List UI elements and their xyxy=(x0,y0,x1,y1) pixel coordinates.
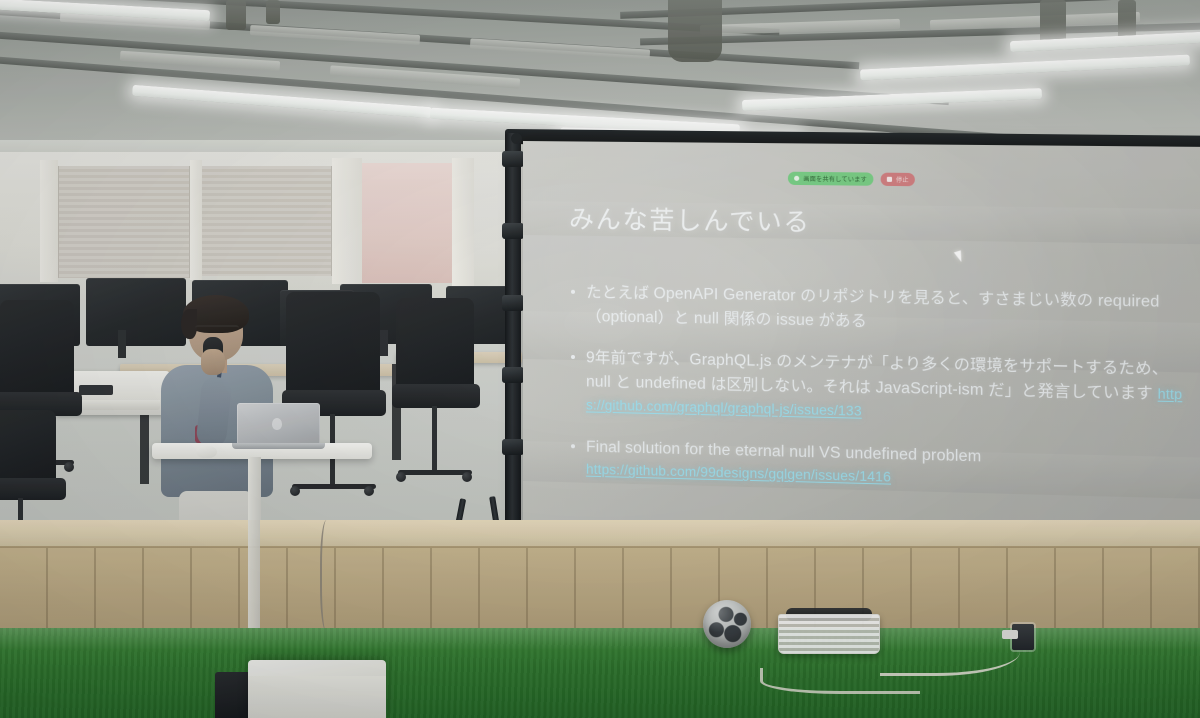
list-item: Final solution for the eternal null VS u… xyxy=(569,435,1188,496)
screen-share-bar: 画面を共有しています 停止 xyxy=(788,172,915,187)
projection-screen: 画面を共有しています 停止 みんな苦しんでいる たとえば OpenAPI Gen… xyxy=(497,127,1200,567)
slide-title: みんな苦しんでいる xyxy=(569,200,1188,244)
slide-bullet-list: たとえば OpenAPI Generator のリポジトリを見ると、すさまじい数… xyxy=(569,281,1188,497)
sharing-status-badge[interactable]: 画面を共有しています xyxy=(788,172,873,186)
sharing-dot-icon xyxy=(794,176,799,181)
wall-column xyxy=(40,160,58,282)
soccer-ball xyxy=(703,600,751,648)
stop-square-icon xyxy=(887,177,892,182)
mouse-cursor-icon xyxy=(954,250,964,263)
presenter-hand xyxy=(201,349,225,375)
list-item: たとえば OpenAPI Generator のリポジトリを見ると、すさまじい数… xyxy=(569,281,1188,340)
slide: 画面を共有しています 停止 みんな苦しんでいる たとえば OpenAPI Gen… xyxy=(523,141,1200,566)
accent-wall-panel xyxy=(360,163,452,283)
monitor-stand xyxy=(118,330,126,358)
wall-column xyxy=(452,158,474,286)
frame-clamp xyxy=(502,439,524,455)
frame-clamp xyxy=(502,151,524,167)
window-blind xyxy=(200,166,332,276)
frame-knob xyxy=(511,133,522,144)
computer-mouse xyxy=(196,446,217,458)
stage-front-panel xyxy=(0,548,1200,634)
sharing-label: 画面を共有しています xyxy=(803,174,867,184)
projection-surface: 画面を共有しています 停止 みんな苦しんでいる たとえば OpenAPI Gen… xyxy=(523,141,1200,566)
glasses-icon xyxy=(195,325,239,336)
extension-cable xyxy=(760,668,920,694)
apple-logo-icon xyxy=(272,418,282,430)
screen-frame-left xyxy=(505,133,521,565)
frame-clamp xyxy=(502,367,524,383)
laptop-base xyxy=(232,443,325,449)
window-blind xyxy=(58,166,190,278)
wall-column xyxy=(332,158,362,284)
structural-pillar xyxy=(248,520,260,640)
storage-basket xyxy=(778,614,880,654)
frame-clamp xyxy=(502,295,524,311)
wall-column xyxy=(190,160,202,280)
stop-sharing-button[interactable]: 停止 xyxy=(880,173,915,187)
bullet-text: たとえば OpenAPI Generator のリポジトリを見ると、すさまじい数… xyxy=(586,284,1160,330)
equipment-case-front xyxy=(248,676,386,718)
power-cable xyxy=(320,520,336,632)
bullet-text: 9年前ですが、GraphQL.js のメンテナが「より多くの環境をサポートするた… xyxy=(586,349,1168,402)
monitor-stand xyxy=(380,330,388,356)
list-item: 9年前ですが、GraphQL.js のメンテナが「より多くの環境をサポートするた… xyxy=(569,346,1188,431)
stop-label: 停止 xyxy=(896,175,909,184)
frame-clamp xyxy=(502,223,524,239)
gqlgen-issue-link[interactable]: https://github.com/99designs/gqlgen/issu… xyxy=(586,460,1188,496)
presentation-photo: 画面を共有しています 停止 みんな苦しんでいる たとえば OpenAPI Gen… xyxy=(0,0,1200,718)
